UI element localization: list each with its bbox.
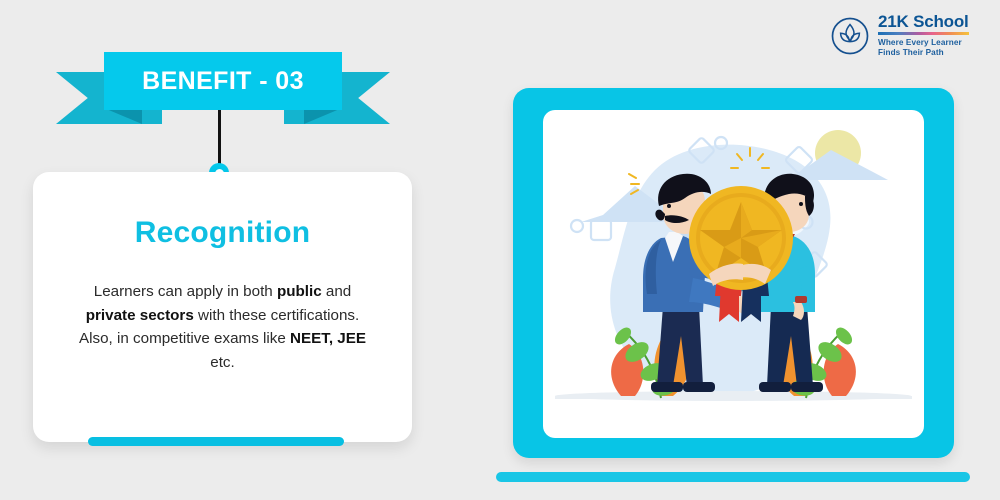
brand-tagline-line2: Finds Their Path [878,48,969,59]
brand-logo-text: 21K School Where Every Learner Finds The… [878,13,969,59]
slide-canvas: 21K School Where Every Learner Finds The… [0,0,1000,500]
illustration-base-bar [496,472,970,482]
recognition-illustration [543,110,924,438]
brand-gradient-rule [878,32,969,35]
card-body-text: Learners can apply in both public and pr… [69,280,376,374]
illustration-screen [543,110,924,438]
ribbon-label: BENEFIT - 03 [142,67,304,96]
brand-tagline-line1: Where Every Learner [878,38,969,49]
card-accent-bar [88,437,344,446]
brand-logo: 21K School Where Every Learner Finds The… [830,12,985,60]
benefit-ribbon-banner: BENEFIT - 03 [56,50,390,130]
benefit-card: Recognition Learners can apply in both p… [33,172,412,442]
ribbon-center-panel: BENEFIT - 03 [104,52,342,110]
lotus-circle-icon [830,16,870,56]
connector-line [218,110,221,168]
brand-tagline: Where Every Learner Finds Their Path [878,38,969,59]
brand-title: 21K School [878,13,969,30]
card-title: Recognition [33,216,412,250]
